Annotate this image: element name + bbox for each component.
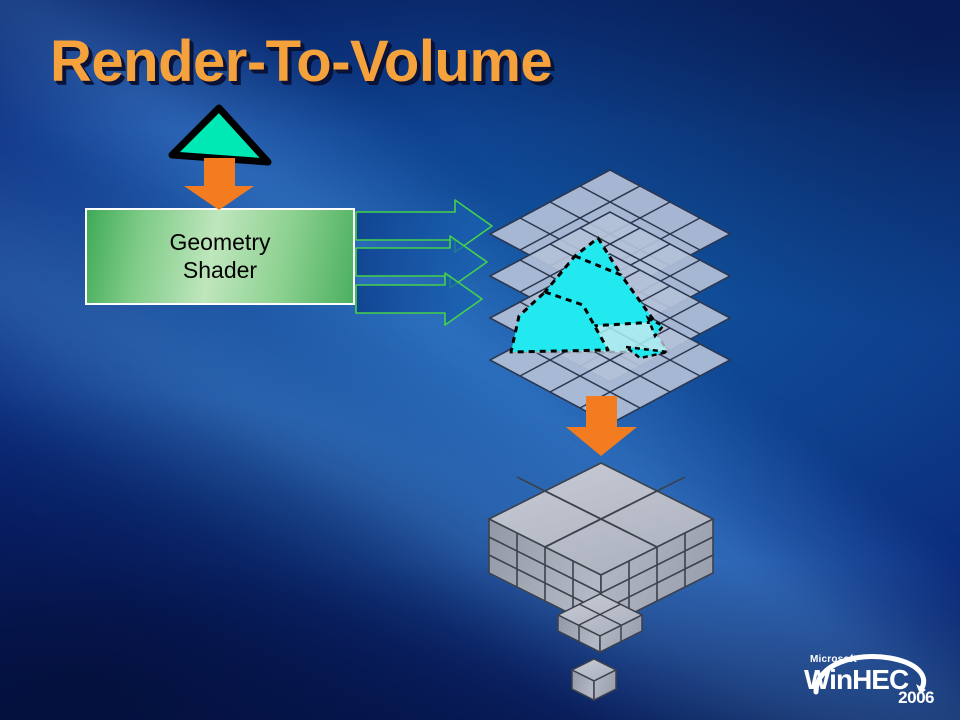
- winhec-logo: Microsoft WinHEC 2006: [786, 648, 946, 710]
- geometry-shader-label: Geometry Shader: [170, 229, 271, 283]
- background-vignette: [0, 0, 960, 720]
- page-title: Render-To-Volume: [50, 28, 552, 95]
- slide-canvas: Render-To-Volume Geometry Shader: [0, 0, 960, 720]
- geometry-shader-box: Geometry Shader: [85, 208, 355, 305]
- logo-year-text: 2006: [898, 688, 934, 708]
- logo-product-text: WinHEC: [804, 664, 908, 696]
